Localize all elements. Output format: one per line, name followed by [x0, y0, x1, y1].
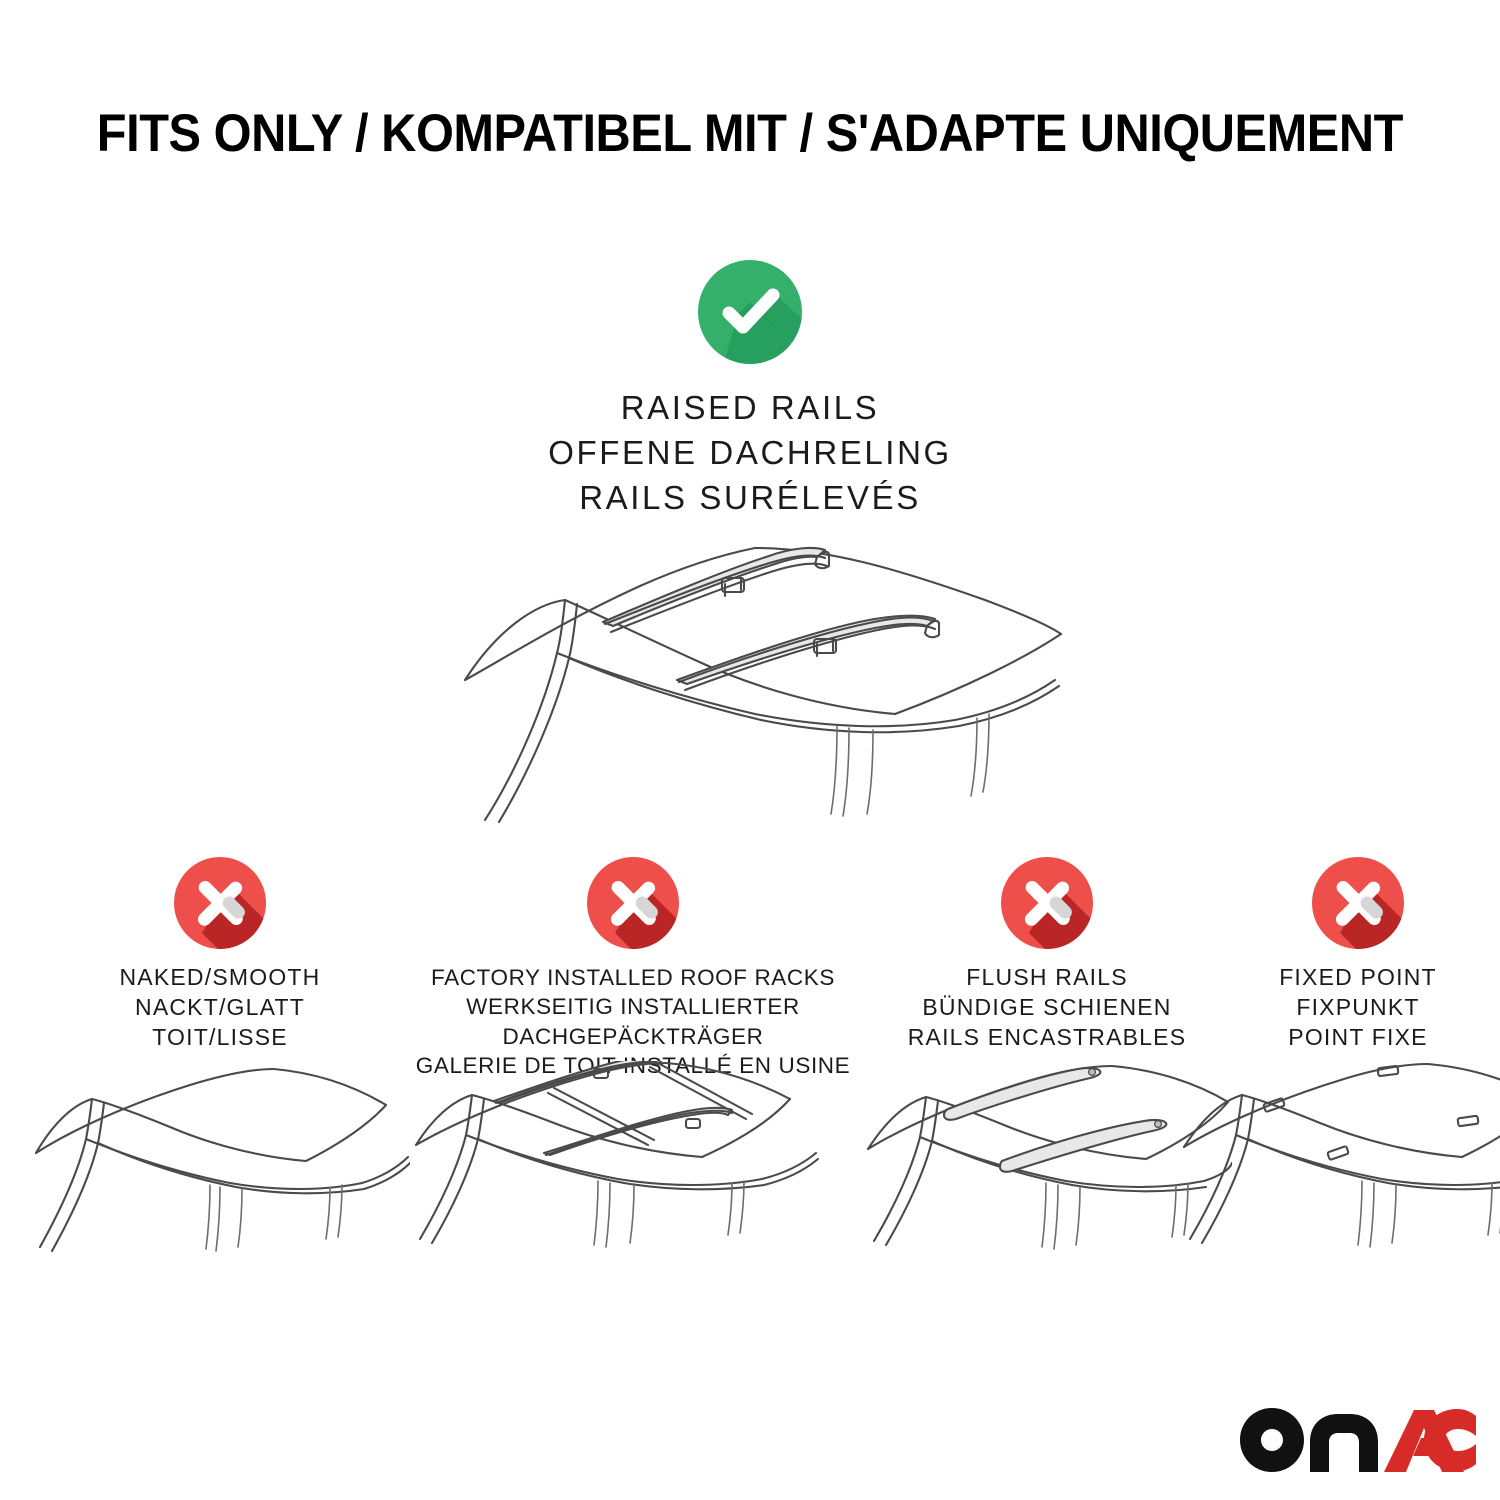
incompatible-1-label-de: NACKT/GLATT — [30, 993, 410, 1023]
car-roof-naked-smooth-illustration — [30, 1061, 410, 1291]
incompatible-4-label-fr: POINT FIXE — [1218, 1023, 1498, 1053]
incompatible-item-fixed-point: FIXED POINT FIXPUNKT POINT FIXE — [1218, 855, 1498, 1053]
omac-logo-mark — [1238, 1404, 1478, 1476]
incompatible-item-flush-rails: FLUSH RAILS BÜNDIGE SCHIENEN RAILS ENCAS… — [862, 855, 1232, 1053]
incompatible-4-label-en: FIXED POINT — [1218, 963, 1498, 993]
cross-circle-icon — [999, 855, 1095, 951]
compatible-label-en: RAISED RAILS — [375, 386, 1125, 431]
compatible-labels: RAISED RAILS OFFENE DACHRELING RAILS SUR… — [375, 386, 1125, 521]
check-icon-wrap — [375, 258, 1125, 366]
cross-circle-icon — [585, 855, 681, 951]
car-roof-flush-rails-illustration — [862, 1061, 1232, 1291]
page-title: FITS ONLY / KOMPATIBEL MIT / S'ADAPTE UN… — [0, 103, 1500, 164]
cross-circle-icon — [1310, 855, 1406, 951]
incompatible-3-label-de: BÜNDIGE SCHIENEN — [862, 993, 1232, 1023]
incompatible-labels-4: FIXED POINT FIXPUNKT POINT FIXE — [1218, 963, 1498, 1053]
incompatible-3-label-fr: RAILS ENCASTRABLES — [862, 1023, 1232, 1053]
page-title-text: FITS ONLY / KOMPATIBEL MIT / S'ADAPTE UN… — [97, 103, 1403, 164]
incompatible-3-label-en: FLUSH RAILS — [862, 963, 1232, 993]
incompatible-labels-1: NAKED/SMOOTH NACKT/GLATT TOIT/LISSE — [30, 963, 410, 1053]
car-roof-raised-rails-illustration — [425, 508, 1075, 838]
car-roof-fixed-point-illustration — [1218, 1061, 1498, 1291]
incompatible-1-label-en: NAKED/SMOOTH — [30, 963, 410, 993]
incompatible-2-label-de-1: WERKSEITIG INSTALLIERTER — [398, 992, 868, 1021]
incompatible-section: NAKED/SMOOTH NACKT/GLATT TOIT/LISSE — [0, 855, 1500, 1325]
incompatible-item-naked-smooth: NAKED/SMOOTH NACKT/GLATT TOIT/LISSE — [30, 855, 410, 1053]
incompatible-2-label-de-2: DACHGEPÄCKTRÄGER — [398, 1022, 868, 1051]
omac-logo — [1238, 1404, 1478, 1476]
incompatible-item-factory-roof-racks: FACTORY INSTALLED ROOF RACKS WERKSEITIG … — [398, 855, 868, 1080]
incompatible-labels-3: FLUSH RAILS BÜNDIGE SCHIENEN RAILS ENCAS… — [862, 963, 1232, 1053]
cross-icon-wrap-3 — [862, 855, 1232, 951]
cross-icon-wrap-4 — [1218, 855, 1498, 951]
cross-icon-wrap-2 — [398, 855, 868, 951]
incompatible-2-label-en: FACTORY INSTALLED ROOF RACKS — [398, 963, 868, 992]
compatible-label-de: OFFENE DACHRELING — [375, 431, 1125, 476]
cross-circle-icon — [172, 855, 268, 951]
check-circle-icon — [696, 258, 804, 366]
incompatible-4-label-de: FIXPUNKT — [1218, 993, 1498, 1023]
incompatible-1-label-fr: TOIT/LISSE — [30, 1023, 410, 1053]
cross-icon-wrap-1 — [30, 855, 410, 951]
car-roof-factory-roof-racks-illustration — [398, 1061, 868, 1291]
compatible-section: RAISED RAILS OFFENE DACHRELING RAILS SUR… — [375, 258, 1125, 521]
